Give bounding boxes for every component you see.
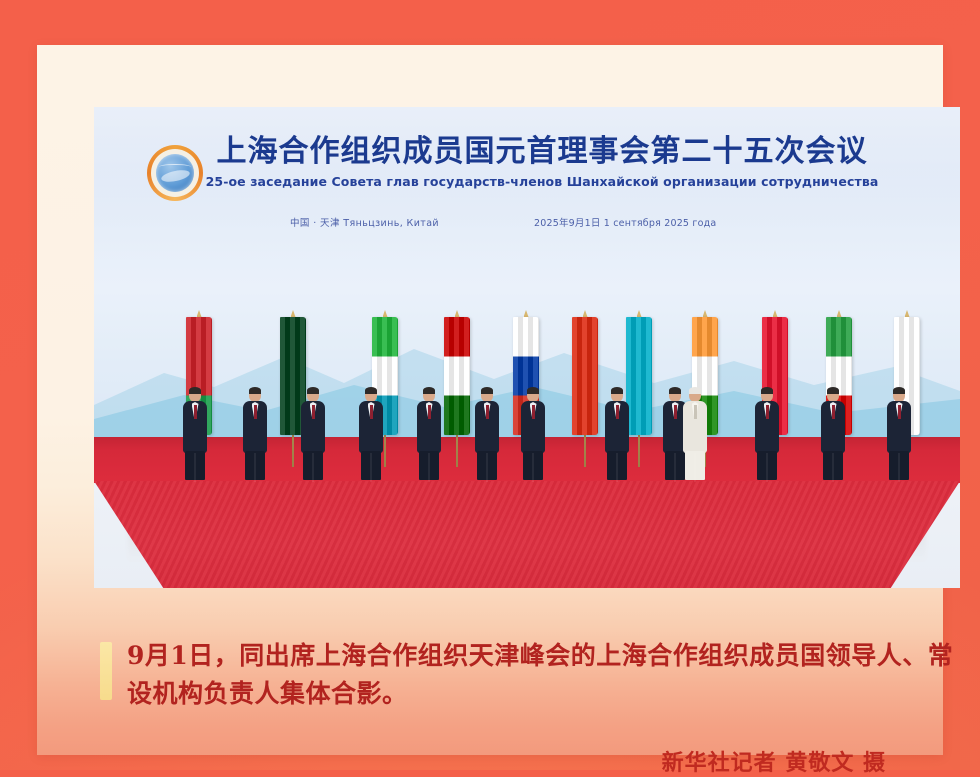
leader-legs <box>607 451 627 480</box>
flag-finial <box>291 310 296 317</box>
leader-legs <box>245 451 265 480</box>
banner-title-chinese: 上海合作组织成员国元首理事会第二十五次会议 <box>94 135 960 168</box>
leader-legs <box>185 451 205 480</box>
leader-hair <box>611 387 624 394</box>
leader-tie <box>616 405 619 419</box>
banner-meta: 中国 · 天津 Тяньцзинь, Китай 2025年9月1日 1 сен… <box>94 215 960 231</box>
flag-cloth <box>572 317 598 435</box>
leader-tie <box>832 405 835 419</box>
leader-hair <box>689 387 702 394</box>
leader-1 <box>180 388 210 480</box>
leader-5 <box>414 388 444 480</box>
summit-photograph: 上海合作组织成员国元首理事会第二十五次会议 25-ое заседание Со… <box>94 107 960 588</box>
leader-tie <box>428 405 431 419</box>
leader-13 <box>884 388 914 480</box>
leader-legs <box>685 451 705 480</box>
leader-8 <box>602 388 632 480</box>
leader-legs <box>889 451 909 480</box>
flag-tajikistan <box>444 317 470 435</box>
leader-legs <box>823 451 843 480</box>
leader-11 <box>752 388 782 480</box>
leader-hair <box>761 387 774 394</box>
banner-title-russian: 25-ое заседание Совета глав государств-ч… <box>94 174 960 189</box>
flag-finial <box>905 310 910 317</box>
leader-hair <box>423 387 436 394</box>
leader-legs <box>523 451 543 480</box>
flag-cloth <box>444 317 470 435</box>
flag-finial <box>455 310 460 317</box>
flag-finial <box>703 310 708 317</box>
flag-finial <box>583 310 588 317</box>
leader-hair <box>249 387 262 394</box>
leader-hair <box>481 387 494 394</box>
banner-date: 2025年9月1日 1 сентября 2025 года <box>534 215 716 229</box>
flag-finial <box>773 310 778 317</box>
leader-hair <box>189 387 202 394</box>
conference-banner: 上海合作组织成员国元首理事会第二十五次会议 25-ое заседание Со… <box>94 135 960 189</box>
leader-4 <box>356 388 386 480</box>
flag-finial <box>383 310 388 317</box>
leader-hair <box>827 387 840 394</box>
leader-2 <box>240 388 270 480</box>
flag-finial <box>197 310 202 317</box>
leader-hair <box>307 387 320 394</box>
leader-hair <box>527 387 540 394</box>
flag-finial <box>837 310 842 317</box>
leader-tie <box>766 405 769 419</box>
page-root: 上海合作组织成员国元首理事会第二十五次会议 25-ое заседание Со… <box>0 0 980 770</box>
leader-legs <box>361 451 381 480</box>
leader-legs <box>303 451 323 480</box>
flag-finial <box>524 310 529 317</box>
sco-emblem-icon <box>147 145 203 201</box>
leader-hair <box>365 387 378 394</box>
photo-card: 上海合作组织成员国元首理事会第二十五次会议 25-ое заседание Со… <box>37 45 943 755</box>
caption-accent-bar <box>100 642 112 700</box>
leader-6 <box>472 388 502 480</box>
banner-place: 中国 · 天津 Тяньцзинь, Китай <box>290 215 439 229</box>
leader-7 <box>518 388 548 480</box>
leader-tie <box>370 405 373 419</box>
flag-finial <box>637 310 642 317</box>
leader-legs <box>419 451 439 480</box>
leader-3 <box>298 388 328 480</box>
leader-tie <box>254 405 257 419</box>
leader-tie <box>694 405 697 419</box>
leader-tie <box>898 405 901 419</box>
leader-tie <box>312 405 315 419</box>
leader-legs <box>757 451 777 480</box>
leader-10 <box>680 388 710 480</box>
leader-tie <box>486 405 489 419</box>
photo-credit: 新华社记者 黄敬文 摄 <box>662 745 886 777</box>
leader-hair <box>893 387 906 394</box>
photo-caption: 9月1日，同出席上海合作组织天津峰会的上海合作组织成员国领导人、常设机构负责人集… <box>127 637 967 713</box>
leader-tie <box>674 405 677 419</box>
leader-tie <box>194 405 197 419</box>
leader-tie <box>532 405 535 419</box>
leader-legs <box>477 451 497 480</box>
flag-china <box>572 317 598 435</box>
leader-12 <box>818 388 848 480</box>
